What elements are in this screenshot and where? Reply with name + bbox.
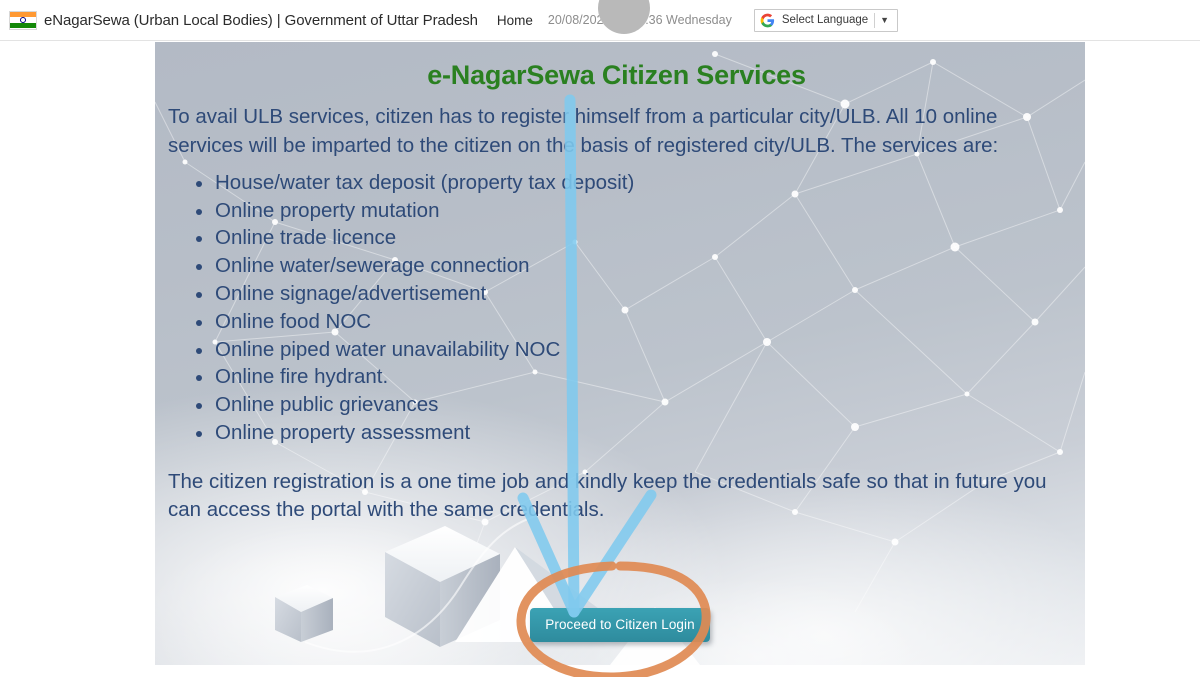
chevron-down-icon[interactable]: ▼	[875, 16, 894, 25]
services-list: House/water tax deposit (property tax de…	[166, 169, 1067, 447]
india-flag-icon	[9, 11, 37, 30]
page-title: e-NagarSewa Citizen Services	[166, 59, 1067, 91]
nav-home-link[interactable]: Home	[497, 13, 533, 28]
list-item: Online trade licence	[196, 224, 1067, 252]
intro-paragraph: To avail ULB services, citizen has to re…	[166, 103, 1067, 160]
cta-container: Proceed to Citizen Login	[155, 608, 1085, 642]
site-title: eNagarSewa (Urban Local Bodies) | Govern…	[44, 12, 478, 29]
list-item: Online fire hydrant.	[196, 363, 1067, 391]
list-item: Online property assessment	[196, 419, 1067, 447]
proceed-to-citizen-login-button[interactable]: Proceed to Citizen Login	[530, 608, 710, 642]
list-item: Online signage/advertisement	[196, 280, 1067, 308]
list-item: Online property mutation	[196, 197, 1067, 225]
select-language-label: Select Language	[782, 14, 874, 26]
list-item: Online piped water unavailability NOC	[196, 336, 1067, 364]
citizen-services-panel: e-NagarSewa Citizen Services To avail UL…	[155, 42, 1085, 665]
outro-paragraph: The citizen registration is a one time j…	[166, 468, 1067, 525]
list-item: Online food NOC	[196, 308, 1067, 336]
google-g-icon	[760, 13, 775, 28]
list-item: Online water/sewerage connection	[196, 252, 1067, 280]
panel-content: e-NagarSewa Citizen Services To avail UL…	[155, 42, 1085, 524]
list-item: Online public grievances	[196, 391, 1067, 419]
select-language-dropdown[interactable]: Select Language ▼	[754, 9, 898, 32]
list-item: House/water tax deposit (property tax de…	[196, 169, 1067, 197]
